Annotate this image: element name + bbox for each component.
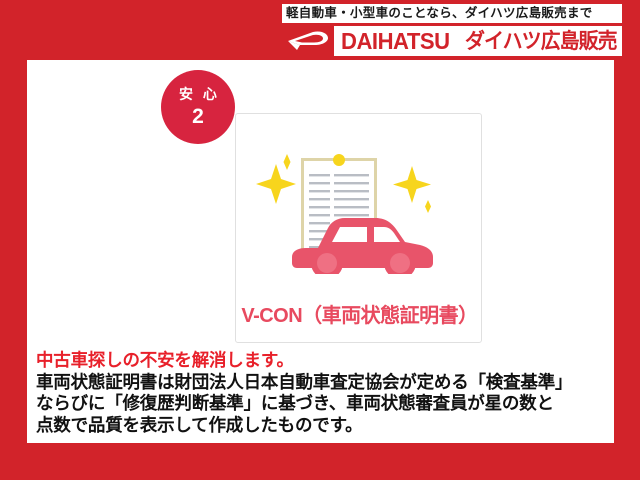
- sparkle-icon-left-small: [284, 154, 291, 170]
- description-block: 中古車探しの不安を解消します。 車両状態証明書は財団法人日本自動車査定協会が定め…: [36, 350, 611, 436]
- sparkle-icon-left-large: [256, 164, 296, 204]
- header-bar: 軽自動車・小型車のことなら、ダイハツ広島販売まで DAIHATSU ダイハツ広島…: [0, 0, 640, 58]
- header-tagline: 軽自動車・小型車のことなら、ダイハツ広島販売まで: [286, 7, 593, 20]
- description-line-2: 車両状態証明書は財団法人日本自動車査定協会が定める「検査基準」: [36, 372, 611, 394]
- description-line-1: 中古車探しの不安を解消します。: [36, 350, 611, 372]
- description-line-4: 点数で品質を表示して作成したものです。: [36, 415, 611, 437]
- description-line-3: ならびに「修復歴判断基準」に基づき、車両状態審査員が星の数と: [36, 393, 611, 415]
- anshin-badge-label: 安 心: [176, 87, 220, 101]
- sparkle-icon-right-large: [393, 166, 431, 203]
- vcon-caption: V-CON（車両状態証明書）: [236, 299, 483, 328]
- header-tagline-box: 軽自動車・小型車のことなら、ダイハツ広島販売まで: [282, 4, 622, 23]
- vcon-illustration: [236, 132, 483, 282]
- sparkle-icon-right-small: [425, 200, 431, 213]
- anshin-badge-number: 2: [192, 106, 204, 127]
- brand-name-latin: DAIHATSU: [341, 30, 450, 53]
- vcon-card: V-CON（車両状態証明書）: [235, 113, 482, 343]
- anshin-badge: 安 心 2: [161, 70, 235, 144]
- daihatsu-d-emblem-icon: [282, 26, 334, 56]
- advertisement-screenshot: 軽自動車・小型車のことなら、ダイハツ広島販売まで DAIHATSU ダイハツ広島…: [0, 0, 640, 480]
- brand-name-jp: ダイハツ広島販売: [465, 31, 617, 52]
- content-panel: 安 心 2: [27, 60, 614, 443]
- brand-logo-bar: DAIHATSU ダイハツ広島販売: [282, 26, 622, 56]
